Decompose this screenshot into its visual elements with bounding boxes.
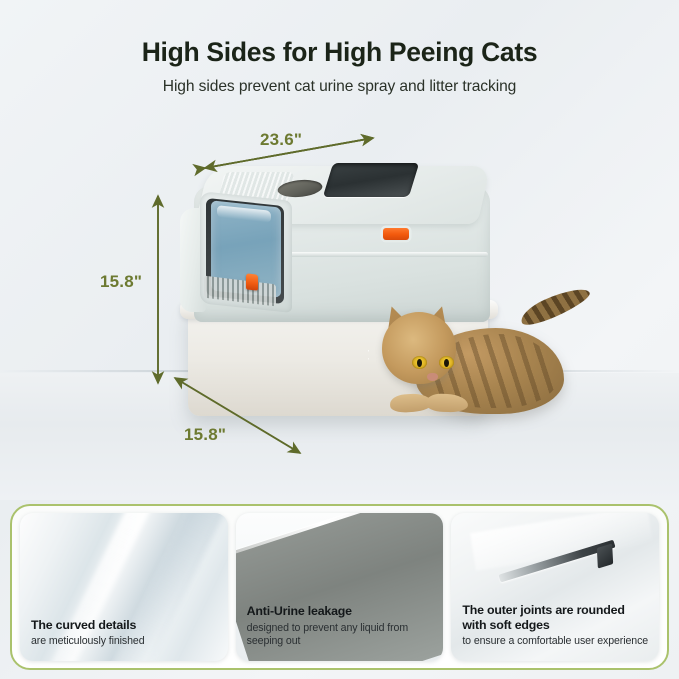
feature-caption: The curved details are meticulously fini… (31, 618, 218, 648)
feature-subtitle: are meticulously finished (31, 635, 218, 648)
infographic-page: High Sides for High Peeing Cats High sid… (0, 0, 679, 679)
dimension-label-depth: 15.8" (184, 425, 226, 445)
tabby-cat-photo (368, 290, 588, 440)
feature-caption: The outer joints are rounded with soft e… (462, 603, 649, 648)
feature-subtitle: to ensure a comfortable user experience (462, 635, 649, 648)
feature-subtitle: designed to prevent any liquid from seep… (247, 622, 434, 648)
top-access-opening (323, 163, 419, 197)
feature-card-curved-details[interactable]: The curved details are meticulously fini… (20, 513, 228, 661)
feature-title: Anti-Urine leakage (247, 604, 434, 619)
feature-card-list: The curved details are meticulously fini… (10, 504, 669, 670)
dimension-label-width: 23.6" (260, 130, 302, 150)
cat-whiskers (368, 346, 478, 368)
cat-nose (427, 373, 438, 381)
door-orange-handle (246, 273, 258, 290)
outer-joint-end-cap (597, 543, 613, 568)
feature-card-anti-urine-leakage[interactable]: Anti-Urine leakage designed to prevent a… (236, 513, 444, 661)
page-subtitle: High sides prevent cat urine spray and l… (0, 78, 679, 96)
feature-title: The outer joints are rounded with soft e… (462, 603, 649, 633)
feature-card-rounded-outer-joints[interactable]: The outer joints are rounded with soft e… (451, 513, 659, 661)
orange-latch-button (383, 228, 409, 240)
header: High Sides for High Peeing Cats High sid… (0, 0, 679, 120)
dimension-label-height: 15.8" (100, 272, 142, 292)
page-title: High Sides for High Peeing Cats (0, 38, 679, 67)
feature-title: The curved details (31, 618, 218, 633)
feature-caption: Anti-Urine leakage designed to prevent a… (247, 604, 434, 648)
product-hero-scene: 23.6" 15.8" 15.8" (0, 118, 679, 500)
cat-tail (517, 282, 593, 330)
